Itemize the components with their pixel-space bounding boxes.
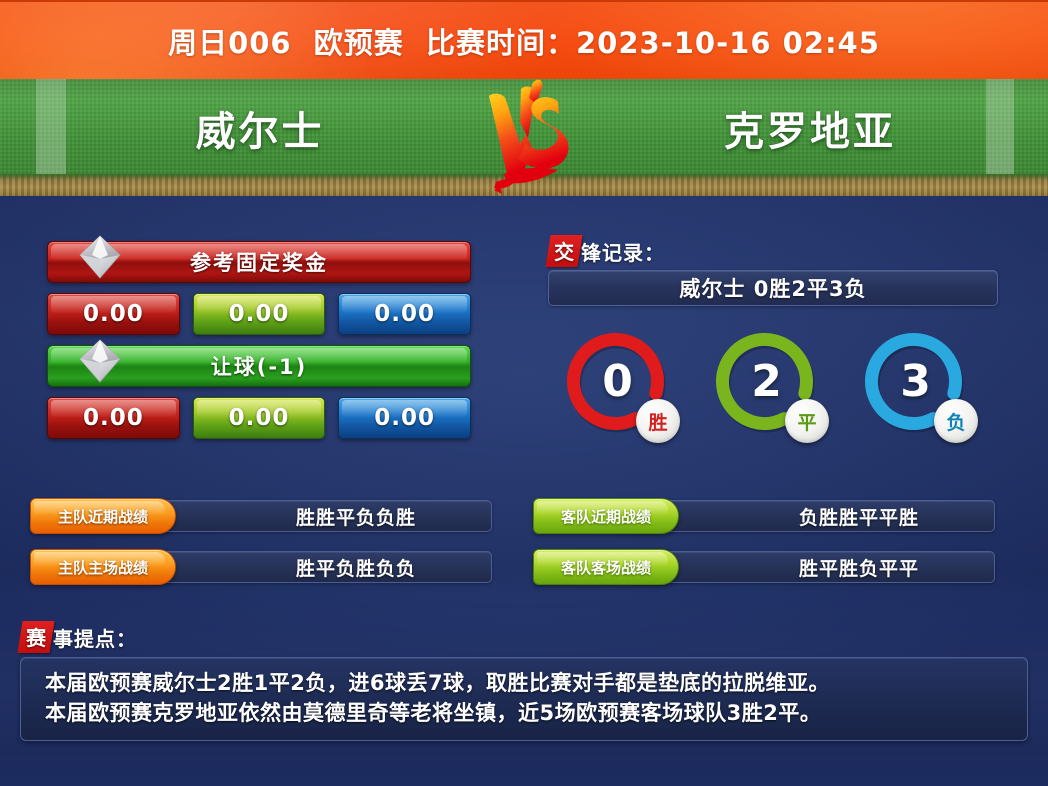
handicap-odds-draw-value: 0.00 xyxy=(229,405,290,431)
home-recent-form-value: 胜胜平负负胜 xyxy=(130,500,492,532)
h2h-ring-lose: 3 负 xyxy=(860,328,967,435)
notes-flag-badge: 赛 xyxy=(17,621,54,653)
home-form-rows: 胜胜平负负胜 主队近期战绩 胜平负胜负负 主队主场战绩 xyxy=(30,500,492,602)
away-team-name: 克罗地亚 xyxy=(660,99,960,157)
handicap-odds-win[interactable]: 0.00 xyxy=(47,397,180,439)
fixed-odds-lose-value: 0.00 xyxy=(374,301,435,327)
away-recent-form-tag-label: 客队近期战绩 xyxy=(561,506,651,527)
handicap-odds-lose[interactable]: 0.00 xyxy=(338,397,471,439)
notes-box: 本届欧预赛威尔士2胜1平2负，进6球丢7球，取胜比赛对手都是垫底的拉脱维亚。 本… xyxy=(20,657,1028,741)
fixed-odds-win[interactable]: 0.00 xyxy=(47,293,180,335)
away-recent-form-row: 负胜胜平平胜 客队近期战绩 xyxy=(533,500,995,532)
fixed-odds-header-label: 参考固定奖金 xyxy=(190,247,328,277)
h2h-flag-char: 交 xyxy=(554,236,575,265)
away-form-rows: 负胜胜平平胜 客队近期战绩 胜平胜负平平 客队客场战绩 xyxy=(533,500,995,602)
handicap-odds-draw[interactable]: 0.00 xyxy=(193,397,326,439)
odds-panel: 参考固定奖金 0.00 0.00 0.00 让球(-1) 0.00 0.00 0… xyxy=(47,241,471,449)
home-home-form-value: 胜平负胜负负 xyxy=(130,551,492,583)
fixed-odds-draw[interactable]: 0.00 xyxy=(193,293,326,335)
h2h-ring-win: 0 胜 xyxy=(562,328,669,435)
notes-flag-char: 赛 xyxy=(26,622,47,651)
home-recent-form-tag-label: 主队近期战绩 xyxy=(58,506,148,527)
h2h-section-label: 锋记录： xyxy=(581,237,665,266)
fixed-odds-row: 0.00 0.00 0.00 xyxy=(47,293,471,335)
notes-section-label: 事提点： xyxy=(53,623,137,652)
away-away-form-tag-label: 客队客场战绩 xyxy=(561,557,651,578)
home-home-form-tag-label: 主队主场战绩 xyxy=(58,557,148,578)
h2h-summary: 威尔士 0胜2平3负 xyxy=(548,270,998,306)
page-title: 周日006 欧预赛 比赛时间：2023-10-16 02:45 xyxy=(0,2,1048,79)
notes-section: 赛 事提点： 本届欧预赛威尔士2胜1平2负，进6球丢7球，取胜比赛对手都是垫底的… xyxy=(20,622,1028,741)
handicap-header: 让球(-1) xyxy=(47,345,471,387)
home-recent-form-tag: 主队近期战绩 xyxy=(30,498,176,534)
h2h-ring-lose-badge: 负 xyxy=(934,399,978,443)
h2h-rings: 0 胜 2 平 3 负 xyxy=(548,328,998,435)
away-away-form-value: 胜平胜负平平 xyxy=(633,551,995,583)
match-preview-page: 周日006 欧预赛 比赛时间：2023-10-16 02:45 威尔士 克罗地亚 xyxy=(0,0,1048,786)
away-away-form-tag: 客队客场战绩 xyxy=(533,549,679,585)
notes-line: 本届欧预赛威尔士2胜1平2负，进6球丢7球，取胜比赛对手都是垫底的拉脱维亚。 xyxy=(45,668,1013,698)
fixed-odds-header: 参考固定奖金 xyxy=(47,241,471,283)
h2h-ring-draw: 2 平 xyxy=(711,328,818,435)
home-team-name: 威尔士 xyxy=(130,99,390,157)
home-home-form-row: 胜平负胜负负 主队主场战绩 xyxy=(30,551,492,583)
vs-icon xyxy=(466,78,586,196)
away-recent-form-tag: 客队近期战绩 xyxy=(533,498,679,534)
fixed-odds-win-value: 0.00 xyxy=(83,301,144,327)
fixed-odds-lose[interactable]: 0.00 xyxy=(338,293,471,335)
away-away-form-row: 胜平胜负平平 客队客场战绩 xyxy=(533,551,995,583)
handicap-odds-row: 0.00 0.00 0.00 xyxy=(47,397,471,439)
notes-line: 本届欧预赛克罗地亚依然由莫德里奇等老将坐镇，近5场欧预赛客场球队3胜2平。 xyxy=(45,698,1013,728)
h2h-ring-draw-badge: 平 xyxy=(785,399,829,443)
diamond-icon xyxy=(76,337,124,385)
diamond-icon xyxy=(76,233,124,281)
handicap-header-label: 让球(-1) xyxy=(211,351,308,381)
h2h-flag-badge: 交 xyxy=(545,235,582,267)
home-recent-form-row: 胜胜平负负胜 主队近期战绩 xyxy=(30,500,492,532)
h2h-ring-win-badge: 胜 xyxy=(636,399,680,443)
handicap-odds-win-value: 0.00 xyxy=(83,405,144,431)
head-to-head-panel: 交 锋记录： 威尔士 0胜2平3负 0 胜 2 平 xyxy=(548,236,998,435)
fixed-odds-draw-value: 0.00 xyxy=(229,301,290,327)
home-home-form-tag: 主队主场战绩 xyxy=(30,549,176,585)
away-recent-form-value: 负胜胜平平胜 xyxy=(633,500,995,532)
notes-section-title: 赛 事提点： xyxy=(20,622,1028,652)
header-bar: 周日006 欧预赛 比赛时间：2023-10-16 02:45 xyxy=(0,0,1048,79)
h2h-section-title: 交 锋记录： xyxy=(548,236,998,266)
handicap-odds-lose-value: 0.00 xyxy=(374,405,435,431)
